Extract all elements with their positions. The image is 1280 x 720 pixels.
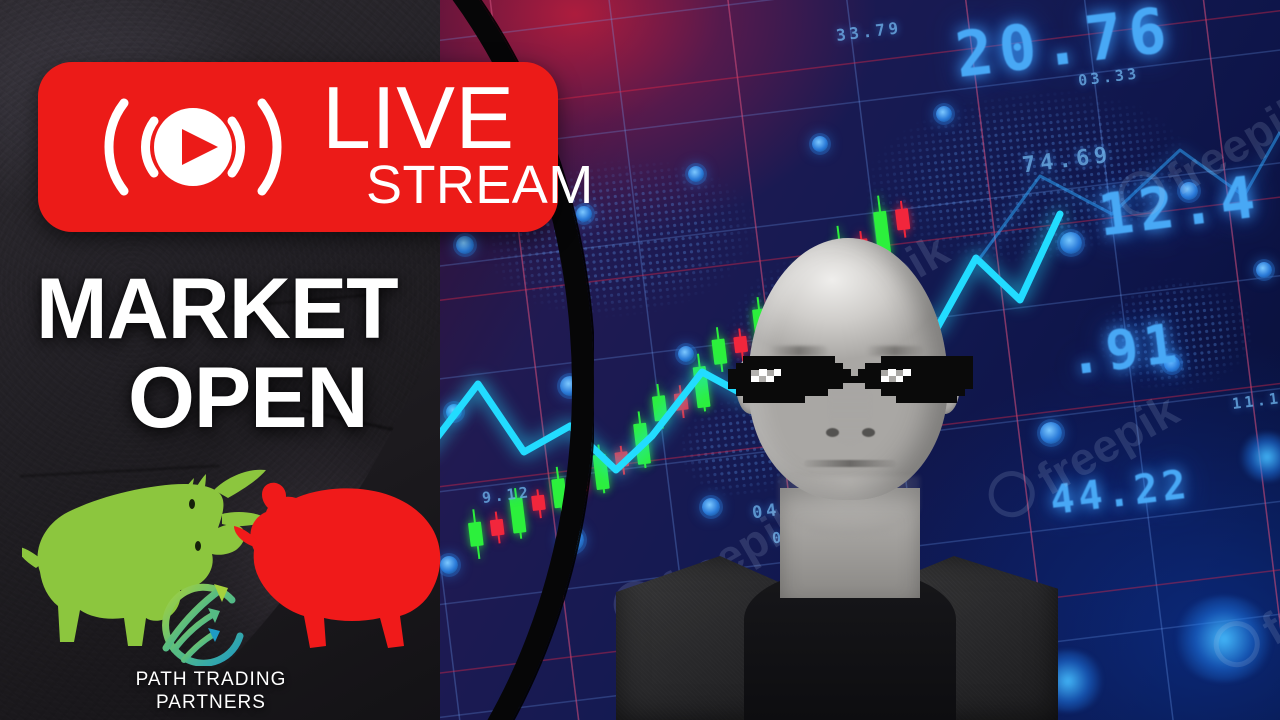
eyebrow-left <box>770 346 828 356</box>
headline-line-1: MARKET <box>36 268 440 351</box>
brand-line-1: PATH TRADING <box>46 668 376 691</box>
mouth <box>804 460 896 467</box>
path-trading-partners-logo <box>140 580 270 666</box>
headline-block: MARKET OPEN <box>0 268 440 439</box>
sunglass-pixel <box>949 395 957 402</box>
sunglass-pixel <box>835 382 843 389</box>
sunglass-pixel <box>957 389 965 396</box>
headline-line-2: OPEN <box>128 357 440 440</box>
sunglass-pixel <box>797 395 805 402</box>
sunglass-pixel <box>820 389 828 396</box>
brand-line-2: PARTNERS <box>46 691 376 714</box>
live-label: LIVE <box>322 81 515 155</box>
nostril-right <box>862 428 875 437</box>
bull-eye <box>189 499 195 509</box>
live-broadcast-icon <box>78 87 308 207</box>
chin-shadow <box>778 476 920 536</box>
thumbnail-canvas: 20.7612.4.9144.2233.7903.3374.6911.104.9… <box>0 0 1280 720</box>
nostril-left <box>826 428 839 437</box>
eyebrow-right <box>866 346 924 356</box>
sunglass-pixel <box>964 382 972 389</box>
bull-nostril <box>195 541 201 551</box>
host-portrait <box>598 238 1058 720</box>
stream-label: STREAM <box>366 158 594 213</box>
brand-name: PATH TRADING PARTNERS <box>46 668 376 714</box>
live-stream-badge[interactable]: LIVE STREAM <box>38 62 558 232</box>
deal-with-it-sunglasses-icon <box>728 356 972 402</box>
